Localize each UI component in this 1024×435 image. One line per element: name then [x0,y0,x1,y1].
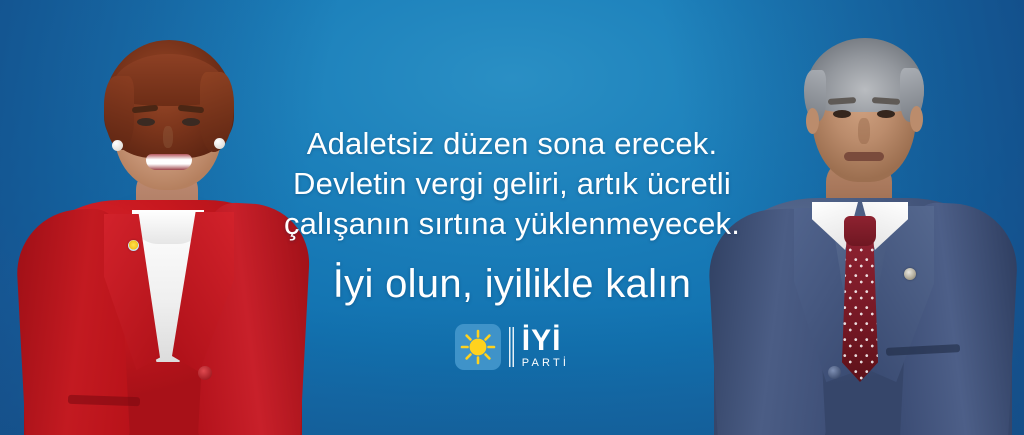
headline-line-2: Devletin vergi geliri, artık ücretli [0,164,1024,204]
campaign-banner: Adaletsiz düzen sona erecek. Devletin ve… [0,0,1024,435]
headline-line-3: çalışanın sırtına yüklenmeyecek. [0,204,1024,244]
party-logo[interactable]: İYİ PARTİ [450,322,574,372]
logo-subtitle: PARTİ [522,358,569,369]
sun-icon [455,324,501,370]
tagline: İyi olun, iyilikle kalın [0,260,1024,308]
logo-name: İYİ [522,326,569,356]
headline: Adaletsiz düzen sona erecek. Devletin ve… [0,0,1024,244]
logo-wordmark: İYİ PARTİ [522,326,569,369]
logo-divider [509,327,514,367]
headline-line-1: Adaletsiz düzen sona erecek. [0,124,1024,164]
banner-content: Adaletsiz düzen sona erecek. Devletin ve… [0,0,1024,372]
